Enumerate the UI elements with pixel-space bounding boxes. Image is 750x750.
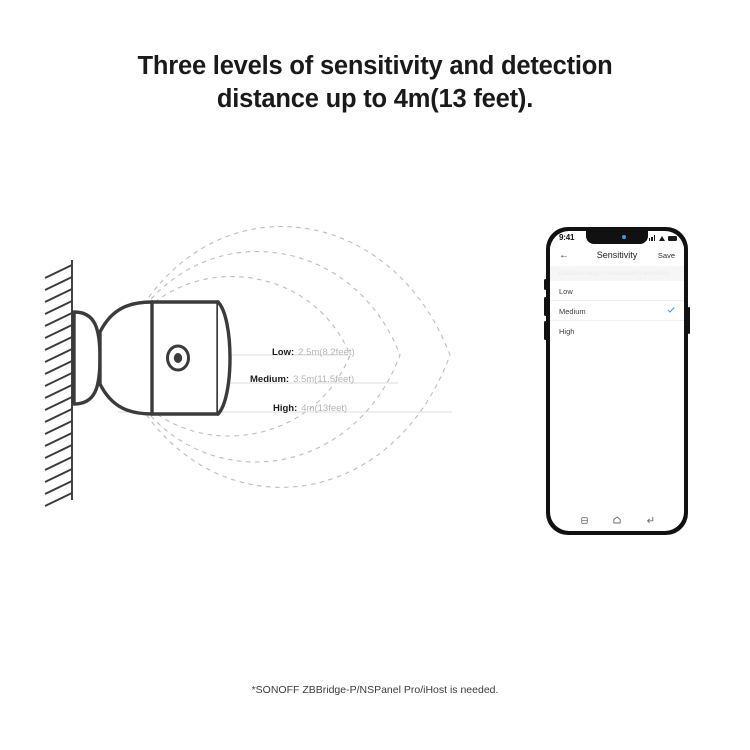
- app-header: ← Sensitivity Save: [550, 245, 684, 266]
- option-label-high: High: [559, 327, 574, 336]
- status-icons: [649, 235, 677, 241]
- option-row-medium[interactable]: Medium: [550, 301, 684, 321]
- camera-body: [100, 302, 218, 414]
- signal-bars-icon: [649, 235, 655, 241]
- footer-note: *SONOFF ZBBridge-P/NSPanel Pro/iHost is …: [0, 684, 750, 696]
- option-label-medium: Medium: [559, 307, 586, 316]
- phone-mockup: 9:41 ← Sensitivity Save Detection range …: [546, 227, 688, 535]
- phone-screen: 9:41 ← Sensitivity Save Detection range …: [550, 231, 684, 531]
- distance-value-medium: 3.5m(11.5feet): [293, 374, 354, 385]
- wifi-icon: [659, 236, 665, 241]
- page-title: Three levels of sensitivity and detectio…: [0, 50, 750, 116]
- back-return-icon[interactable]: [645, 516, 654, 525]
- hint-text: Detection range increases with sensitivi…: [559, 270, 669, 278]
- battery-icon: [668, 236, 677, 241]
- option-row-low[interactable]: Low: [550, 281, 684, 301]
- camera-lens-eye: [168, 346, 189, 370]
- distance-value-low: 2.5m(8.2feet): [298, 347, 355, 358]
- phone-volume-up-button[interactable]: [544, 297, 547, 316]
- phone-mute-switch[interactable]: [544, 279, 547, 290]
- hint-banner: Detection range increases with sensitivi…: [550, 266, 684, 281]
- distance-row-high: High:4m(13feet): [273, 401, 347, 417]
- front-camera-dot-icon: [622, 235, 626, 239]
- home-pentagon-icon[interactable]: [612, 516, 621, 525]
- phone-notch: [586, 231, 648, 244]
- distance-value-high: 4m(13feet): [301, 403, 347, 414]
- option-label-low: Low: [559, 287, 573, 296]
- camera-lens-face: [218, 302, 230, 414]
- distance-row-medium: Medium:3.5m(11.5feet): [250, 372, 354, 388]
- android-nav-bar: [550, 509, 684, 531]
- option-row-high[interactable]: High: [550, 321, 684, 340]
- recents-square-icon[interactable]: [580, 516, 589, 525]
- bullet-camera: [74, 302, 230, 414]
- distance-label-high: High:: [273, 403, 297, 414]
- sensitivity-option-list: Low Medium High: [550, 281, 684, 340]
- title-line-2: distance up to 4m(13 feet).: [0, 83, 750, 116]
- distance-label-medium: Medium:: [250, 374, 289, 385]
- wall-hatching: [45, 260, 72, 506]
- distance-label-low: Low:: [272, 347, 294, 358]
- save-button[interactable]: Save: [658, 251, 675, 261]
- phone-power-button[interactable]: [688, 307, 691, 334]
- phone-volume-down-button[interactable]: [544, 321, 547, 340]
- camera-detection-illustration: [0, 150, 520, 570]
- status-time: 9:41: [559, 233, 574, 242]
- camera-mount-bracket: [74, 312, 100, 404]
- title-line-1: Three levels of sensitivity and detectio…: [0, 50, 750, 83]
- distance-row-low: Low:2.5m(8.2feet): [272, 345, 355, 361]
- check-icon: [667, 306, 675, 314]
